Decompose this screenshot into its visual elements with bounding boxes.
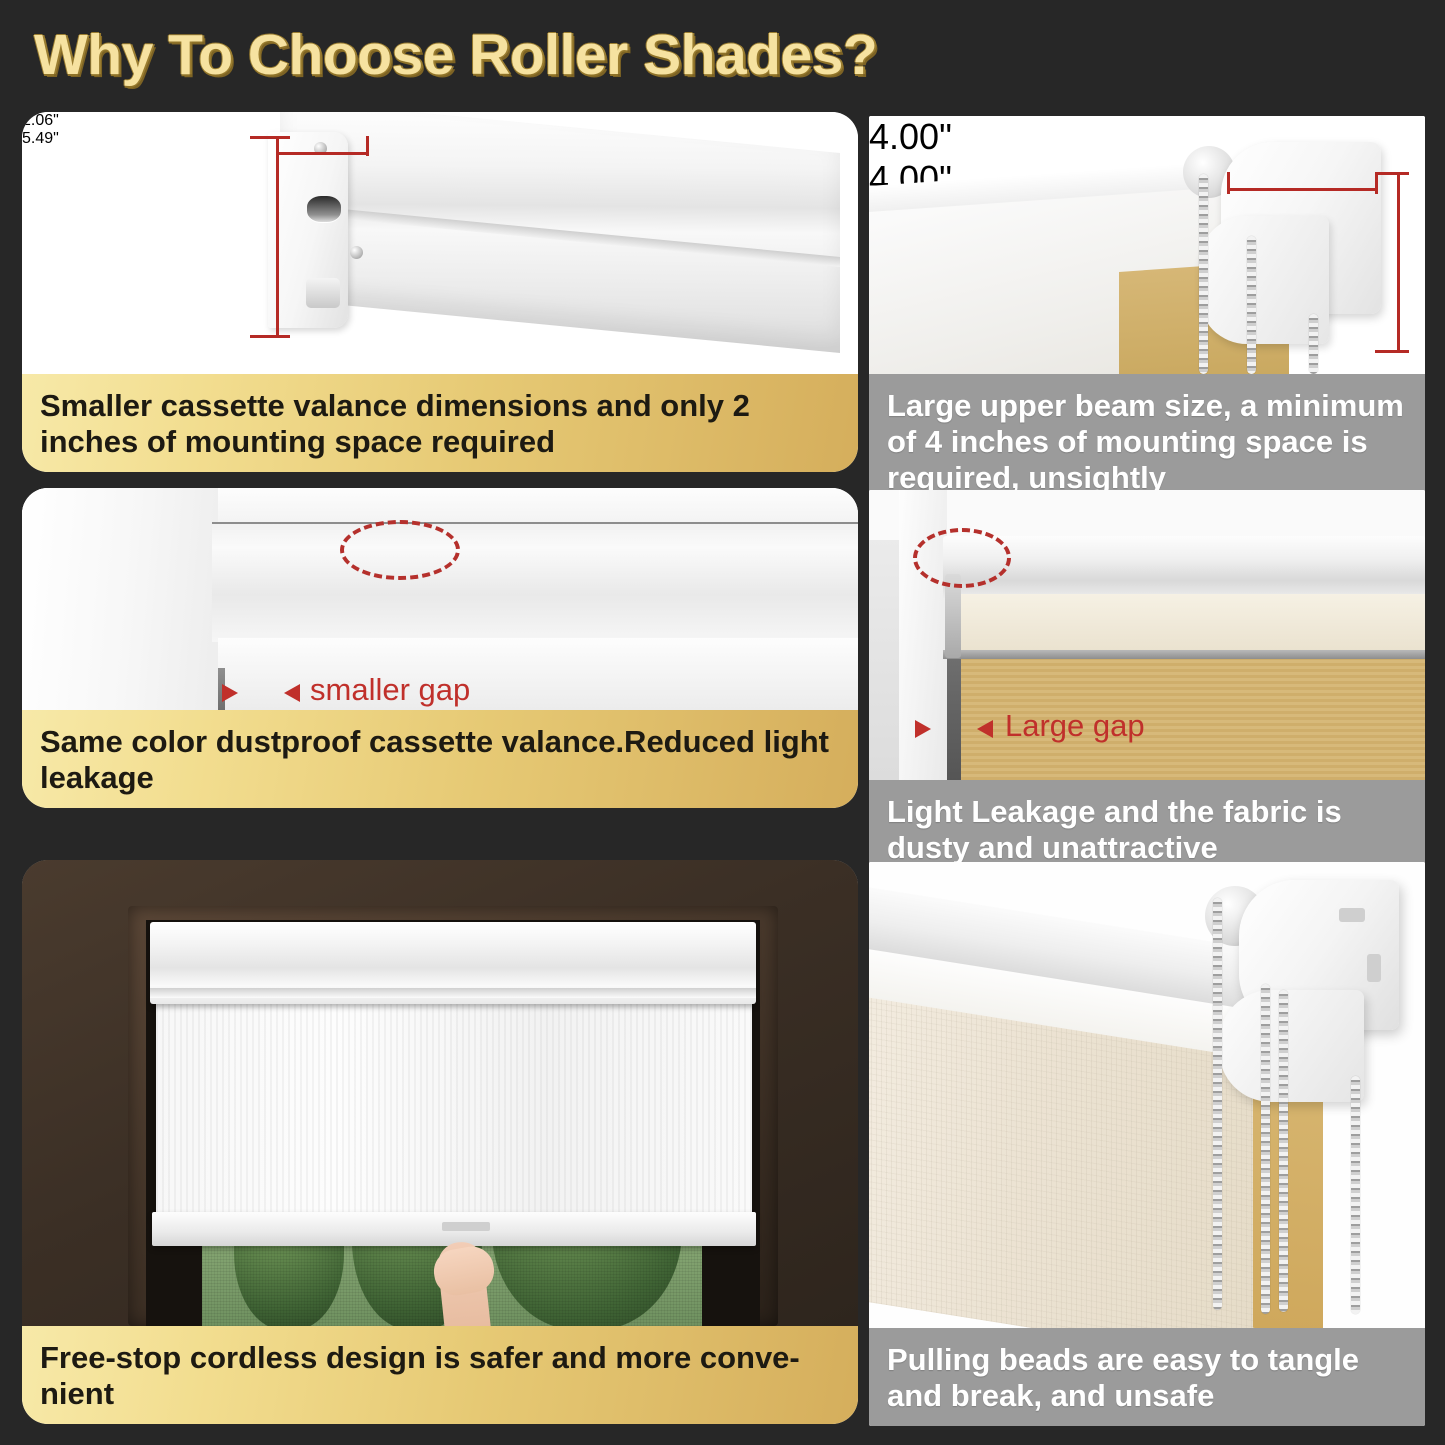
- valance-face: [212, 524, 858, 642]
- gap-arrow-right-icon: [977, 720, 993, 738]
- dim-height-line: [276, 138, 279, 338]
- beam-height-tick-bottom: [1375, 350, 1409, 353]
- gap-label: Large gap: [1005, 708, 1145, 744]
- dim-width-tick-right: [366, 136, 369, 156]
- bead-chain-1: [1213, 898, 1222, 1310]
- beam-height-line: [1397, 174, 1400, 352]
- panel-row2-bad: Large gap Light Leakage and the fabric i…: [869, 490, 1425, 878]
- photo-cassette-dimensions: 2.06" 5.49": [22, 112, 858, 374]
- panel-row3-good: Free-stop cordless design is safer and m…: [22, 860, 858, 1424]
- bead-chain-2: [1247, 236, 1256, 374]
- bead-chain-3: [1309, 314, 1318, 374]
- bead-chain-3: [1279, 990, 1288, 1312]
- gap-arrow-left-icon: [915, 720, 931, 738]
- gap-arrow-right-icon: [284, 684, 300, 702]
- panel-row1-bad: 4.00" 4.00" Large upper beam size, a min…: [869, 116, 1425, 508]
- caption-row1-bad: Large upper beam size, a minimum of 4 in…: [869, 374, 1425, 508]
- valance-body: [280, 112, 840, 353]
- beam-width-tick-right: [1375, 172, 1378, 194]
- brand-tag: [442, 1222, 490, 1231]
- page-title: Why To Choose Roller Shades?: [34, 22, 877, 88]
- dim-height-tick-bottom: [250, 335, 290, 338]
- caption-row3-bad: Pulling beads are easy to tangle and bre…: [869, 1328, 1425, 1426]
- endcap-slot: [307, 196, 341, 222]
- photo-cordless-window: [22, 860, 858, 1326]
- photo-smaller-gap: smaller gap: [22, 488, 858, 710]
- panel-row3-bad: Pulling beads are easy to tangle and bre…: [869, 862, 1425, 1426]
- photo-large-beam: 4.00" 4.00": [869, 116, 1425, 374]
- infographic-page: Why To Choose Roller Shades? 2.06" 5.49"…: [0, 0, 1445, 1445]
- photo-large-gap: Large gap: [869, 490, 1425, 780]
- bracket-notch-2: [1367, 954, 1381, 982]
- panel-row1-good: 2.06" 5.49" Smaller cassette valance dim…: [22, 112, 858, 472]
- photo-bead-chains: [869, 862, 1425, 1328]
- caption-row2-good: Same color dustproof cassette valance.Re…: [22, 710, 858, 808]
- beam-width-line: [1229, 188, 1377, 191]
- bracket-notch-1: [1339, 908, 1365, 922]
- caption-row3-good: Free-stop cordless design is safer and m…: [22, 1326, 858, 1424]
- bead-chain-2: [1261, 984, 1270, 1314]
- roller-shade-texture: [156, 998, 752, 1220]
- gap-label: smaller gap: [310, 672, 470, 708]
- window-frame-left: [22, 488, 218, 710]
- beam-width-tick-left: [1227, 172, 1230, 194]
- panel-row2-good: smaller gap Same color dustproof cassett…: [22, 488, 858, 808]
- screw-mid-icon: [350, 246, 363, 259]
- beam-rail: [943, 650, 1425, 659]
- dim-width-line: [278, 152, 368, 155]
- dim-height-tick-top: [250, 136, 290, 139]
- highlight-ellipse-icon: [340, 520, 460, 580]
- endcap-bolt: [306, 278, 340, 308]
- bracket-lower: [1219, 990, 1364, 1102]
- caption-row1-good: Smaller cassette valance dimensions and …: [22, 374, 858, 472]
- cassette-lip: [150, 988, 756, 998]
- beam-height-tick-top: [1375, 172, 1409, 175]
- bead-chain-1: [1199, 174, 1208, 374]
- highlight-ellipse-icon: [913, 528, 1011, 588]
- light-gap: [947, 659, 961, 780]
- upper-beam: [943, 536, 1425, 600]
- beam-valance-face: [947, 594, 1425, 652]
- gap-arrow-left-icon: [222, 684, 238, 702]
- bead-chain-4: [1351, 1076, 1360, 1314]
